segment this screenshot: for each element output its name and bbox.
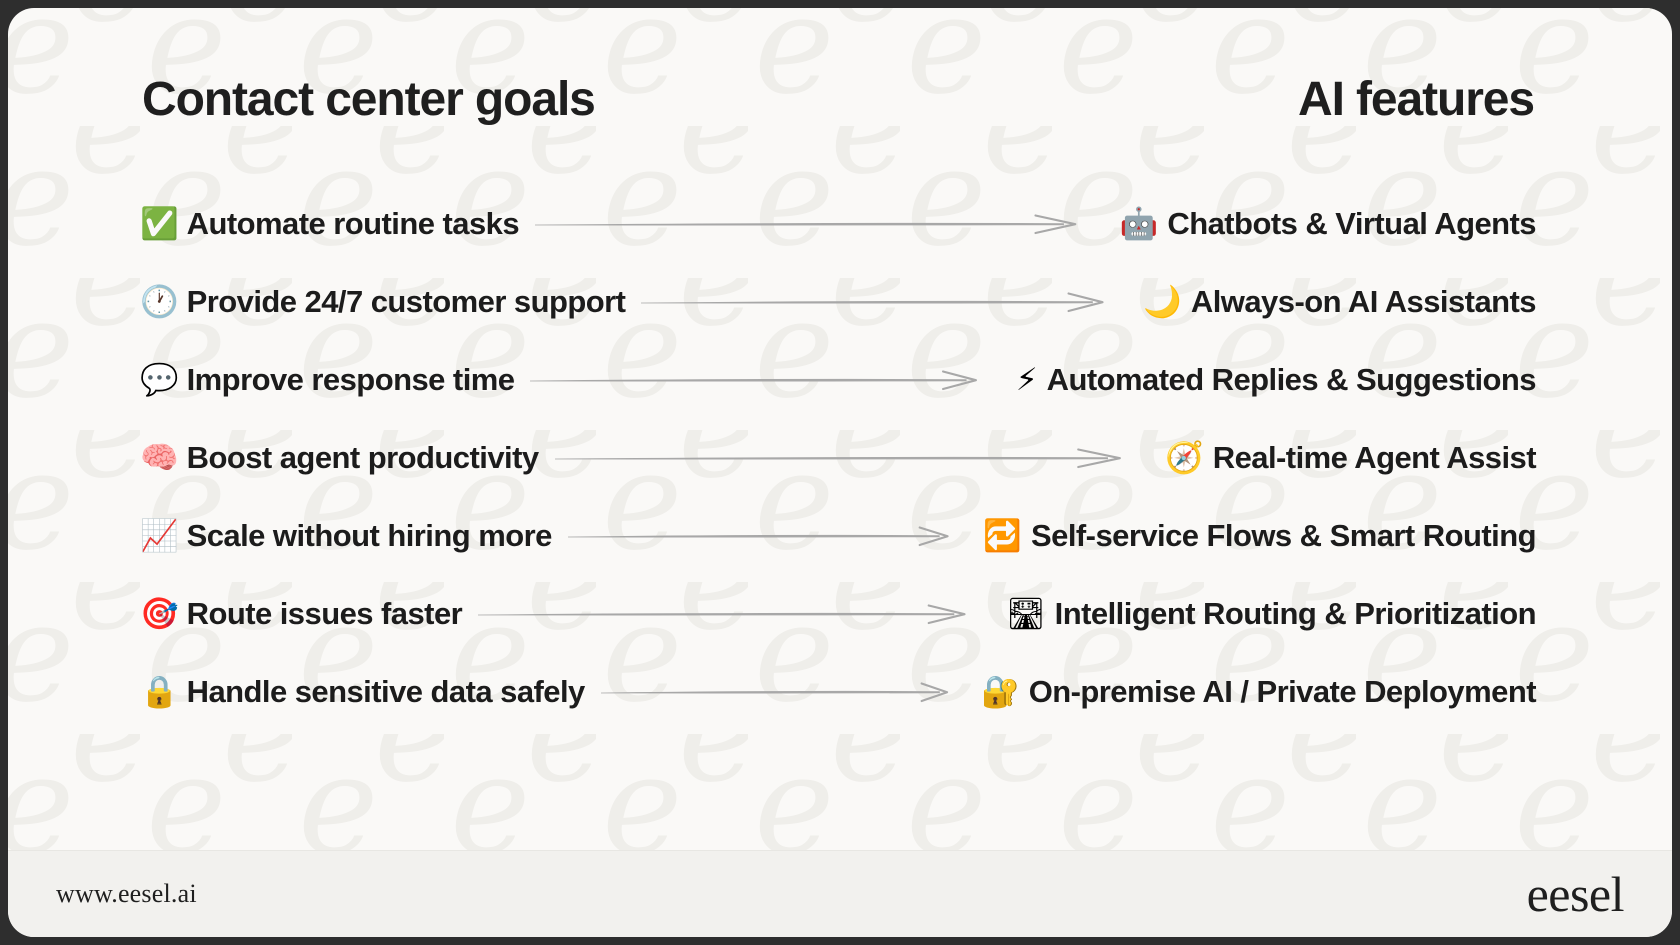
feature-item: 🔁Self-service Flows & Smart Routing [983,518,1536,554]
column-headers: Contact center goals AI features [56,72,1624,127]
mapping-row: ✅Automate routine tasks🤖Chatbots & Virtu… [140,185,1536,263]
goal-label: Scale without hiring more [187,518,552,554]
mapping-arrow [568,523,968,549]
goal-item: 🧠Boost agent productivity [140,440,539,476]
repeat-button-icon: 🔁 [983,521,1022,552]
mapping-row: 🧠Boost agent productivity🧭Real-time Agen… [140,419,1536,497]
mapping-row: 🕐Provide 24/7 customer support🌙Always-on… [140,263,1536,341]
goal-label: Improve response time [187,362,515,398]
mapping-arrow [555,445,1150,471]
goal-item: 📈Scale without hiring more [140,518,552,554]
eesel-logo-wordmark: eesel [1527,869,1624,919]
goal-item: 🔒Handle sensitive data safely [140,674,585,710]
crescent-moon-icon: 🌙 [1143,287,1182,318]
feature-item: 🔐On-premise AI / Private Deployment [981,674,1536,710]
goal-item: 🎯Route issues faster [140,596,462,632]
motorway-icon: 🛣 [1006,599,1045,630]
card-footer: www.eesel.ai eesel [8,850,1672,937]
robot-icon: 🤖 [1120,209,1159,240]
goal-label: Provide 24/7 customer support [187,284,626,320]
locked-with-key-icon: 🔐 [981,677,1020,708]
mapping-row: 💬Improve response time⚡Automated Replies… [140,341,1536,419]
mapping-arrow [641,289,1127,315]
mapping-row: 🎯Route issues faster🛣Intelligent Routing… [140,575,1536,653]
high-voltage-icon: ⚡ [1016,365,1038,396]
feature-item: 🌙Always-on AI Assistants [1143,284,1536,320]
mapping-arrow [478,601,990,627]
locked-icon: 🔒 [140,677,179,708]
mapping-arrow [601,679,965,705]
feature-label: Chatbots & Virtual Agents [1167,206,1536,242]
feature-item: 🤖Chatbots & Virtual Agents [1120,206,1536,242]
chart-increasing-icon: 📈 [140,521,179,552]
goal-item: ✅Automate routine tasks [140,206,519,242]
goal-label: Automate routine tasks [187,206,519,242]
goal-label: Handle sensitive data safely [187,674,585,710]
feature-item: 🛣Intelligent Routing & Prioritization [1006,596,1536,632]
goal-label: Boost agent productivity [187,440,539,476]
card-content: Contact center goals AI features ✅Automa… [8,8,1672,850]
feature-label: On-premise AI / Private Deployment [1029,674,1536,710]
feature-item: ⚡Automated Replies & Suggestions [1016,362,1536,398]
feature-label: Intelligent Routing & Prioritization [1055,596,1536,632]
feature-label: Automated Replies & Suggestions [1047,362,1536,398]
feature-item: 🧭Real-time Agent Assist [1165,440,1536,476]
compass-icon: 🧭 [1165,443,1204,474]
bullseye-icon: 🎯 [140,599,179,630]
mapping-row: 🔒Handle sensitive data safely🔐On-premise… [140,653,1536,731]
footer-website-url: www.eesel.ai [56,879,197,909]
mapping-arrow [535,211,1104,237]
speech-balloon-icon: 💬 [140,365,179,396]
mapping-rows: ✅Automate routine tasks🤖Chatbots & Virtu… [56,185,1624,731]
feature-label: Always-on AI Assistants [1191,284,1536,320]
infographic-card: Contact center goals AI features ✅Automa… [8,8,1672,937]
goals-column-header: Contact center goals [142,72,595,127]
mapping-row: 📈Scale without hiring more🔁Self-service … [140,497,1536,575]
mapping-arrow [530,367,999,393]
goal-item: 💬Improve response time [140,362,514,398]
clock-icon: 🕐 [140,287,179,318]
check-mark-button-icon: ✅ [140,209,179,240]
goal-label: Route issues faster [187,596,463,632]
feature-label: Self-service Flows & Smart Routing [1031,518,1536,554]
goal-item: 🕐Provide 24/7 customer support [140,284,625,320]
features-column-header: AI features [1298,72,1534,127]
feature-label: Real-time Agent Assist [1213,440,1536,476]
brain-icon: 🧠 [140,443,179,474]
